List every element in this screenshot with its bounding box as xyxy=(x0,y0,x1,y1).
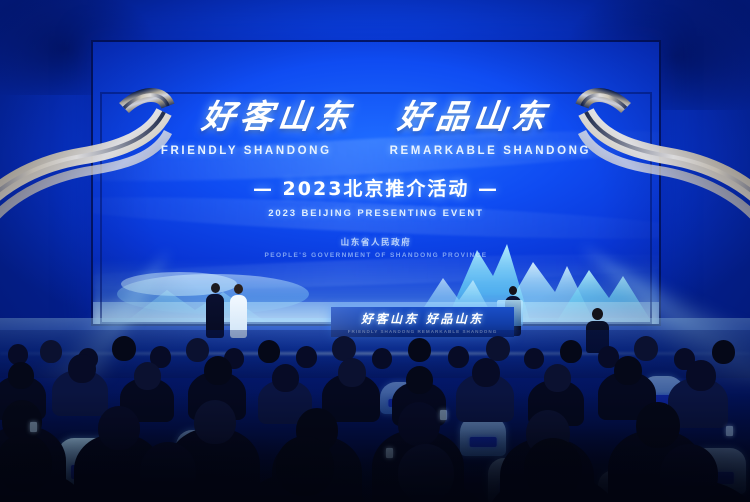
organizer-english: PEOPLE'S GOVERNMENT OF SHANDONG PROVINCE xyxy=(93,252,659,259)
audience-head xyxy=(406,366,433,394)
audience-head xyxy=(112,336,136,361)
slogan-row-chinese: 好客山东 好品山东 xyxy=(93,100,659,133)
slogan-row-english: FRIENDLY SHANDONG REMARKABLE SHANDONG xyxy=(93,145,659,157)
audience-head xyxy=(472,358,500,387)
audience-head xyxy=(408,338,431,362)
audience-head xyxy=(258,340,280,363)
organizer-chinese: 山东省人民政府 xyxy=(93,236,659,248)
slogan-cn-left: 好客山东 xyxy=(200,100,356,133)
audience-head xyxy=(614,356,642,385)
podium-banner-chinese: 好客山东 好品山东 xyxy=(361,310,484,327)
audience-head xyxy=(8,362,34,389)
audience-head xyxy=(338,358,366,387)
audience-head xyxy=(372,348,392,369)
audience-head xyxy=(204,356,232,385)
audience-area xyxy=(0,330,750,502)
event-title-english: 2023 BEIJING PRESENTING EVENT xyxy=(93,208,659,219)
audience-head xyxy=(686,360,716,391)
front-row-shadow-mass xyxy=(0,392,750,502)
audience-head xyxy=(296,346,317,368)
audience-head xyxy=(272,364,299,392)
event-stage-photo: 好客山东 好品山东 FRIENDLY SHANDONG REMARKABLE S… xyxy=(0,0,750,502)
audience-head xyxy=(186,338,209,362)
audience-head xyxy=(634,336,658,361)
audience-head xyxy=(68,354,96,383)
event-title-chinese: — 2023北京推介活动 — xyxy=(93,174,659,201)
slogan-cn-right: 好品山东 xyxy=(396,100,552,133)
audience-head xyxy=(40,340,62,363)
slogan-en-left: FRIENDLY SHANDONG xyxy=(161,145,332,157)
audience-head xyxy=(486,336,510,361)
slogan-en-right: REMARKABLE SHANDONG xyxy=(390,145,591,157)
audience-head xyxy=(560,340,582,363)
audience-head xyxy=(448,346,469,368)
audience-head xyxy=(712,340,735,364)
audience-head xyxy=(544,364,571,392)
audience-head xyxy=(524,348,544,369)
led-text-block: 好客山东 好品山东 FRIENDLY SHANDONG REMARKABLE S… xyxy=(93,100,659,259)
audience-head xyxy=(134,362,161,390)
